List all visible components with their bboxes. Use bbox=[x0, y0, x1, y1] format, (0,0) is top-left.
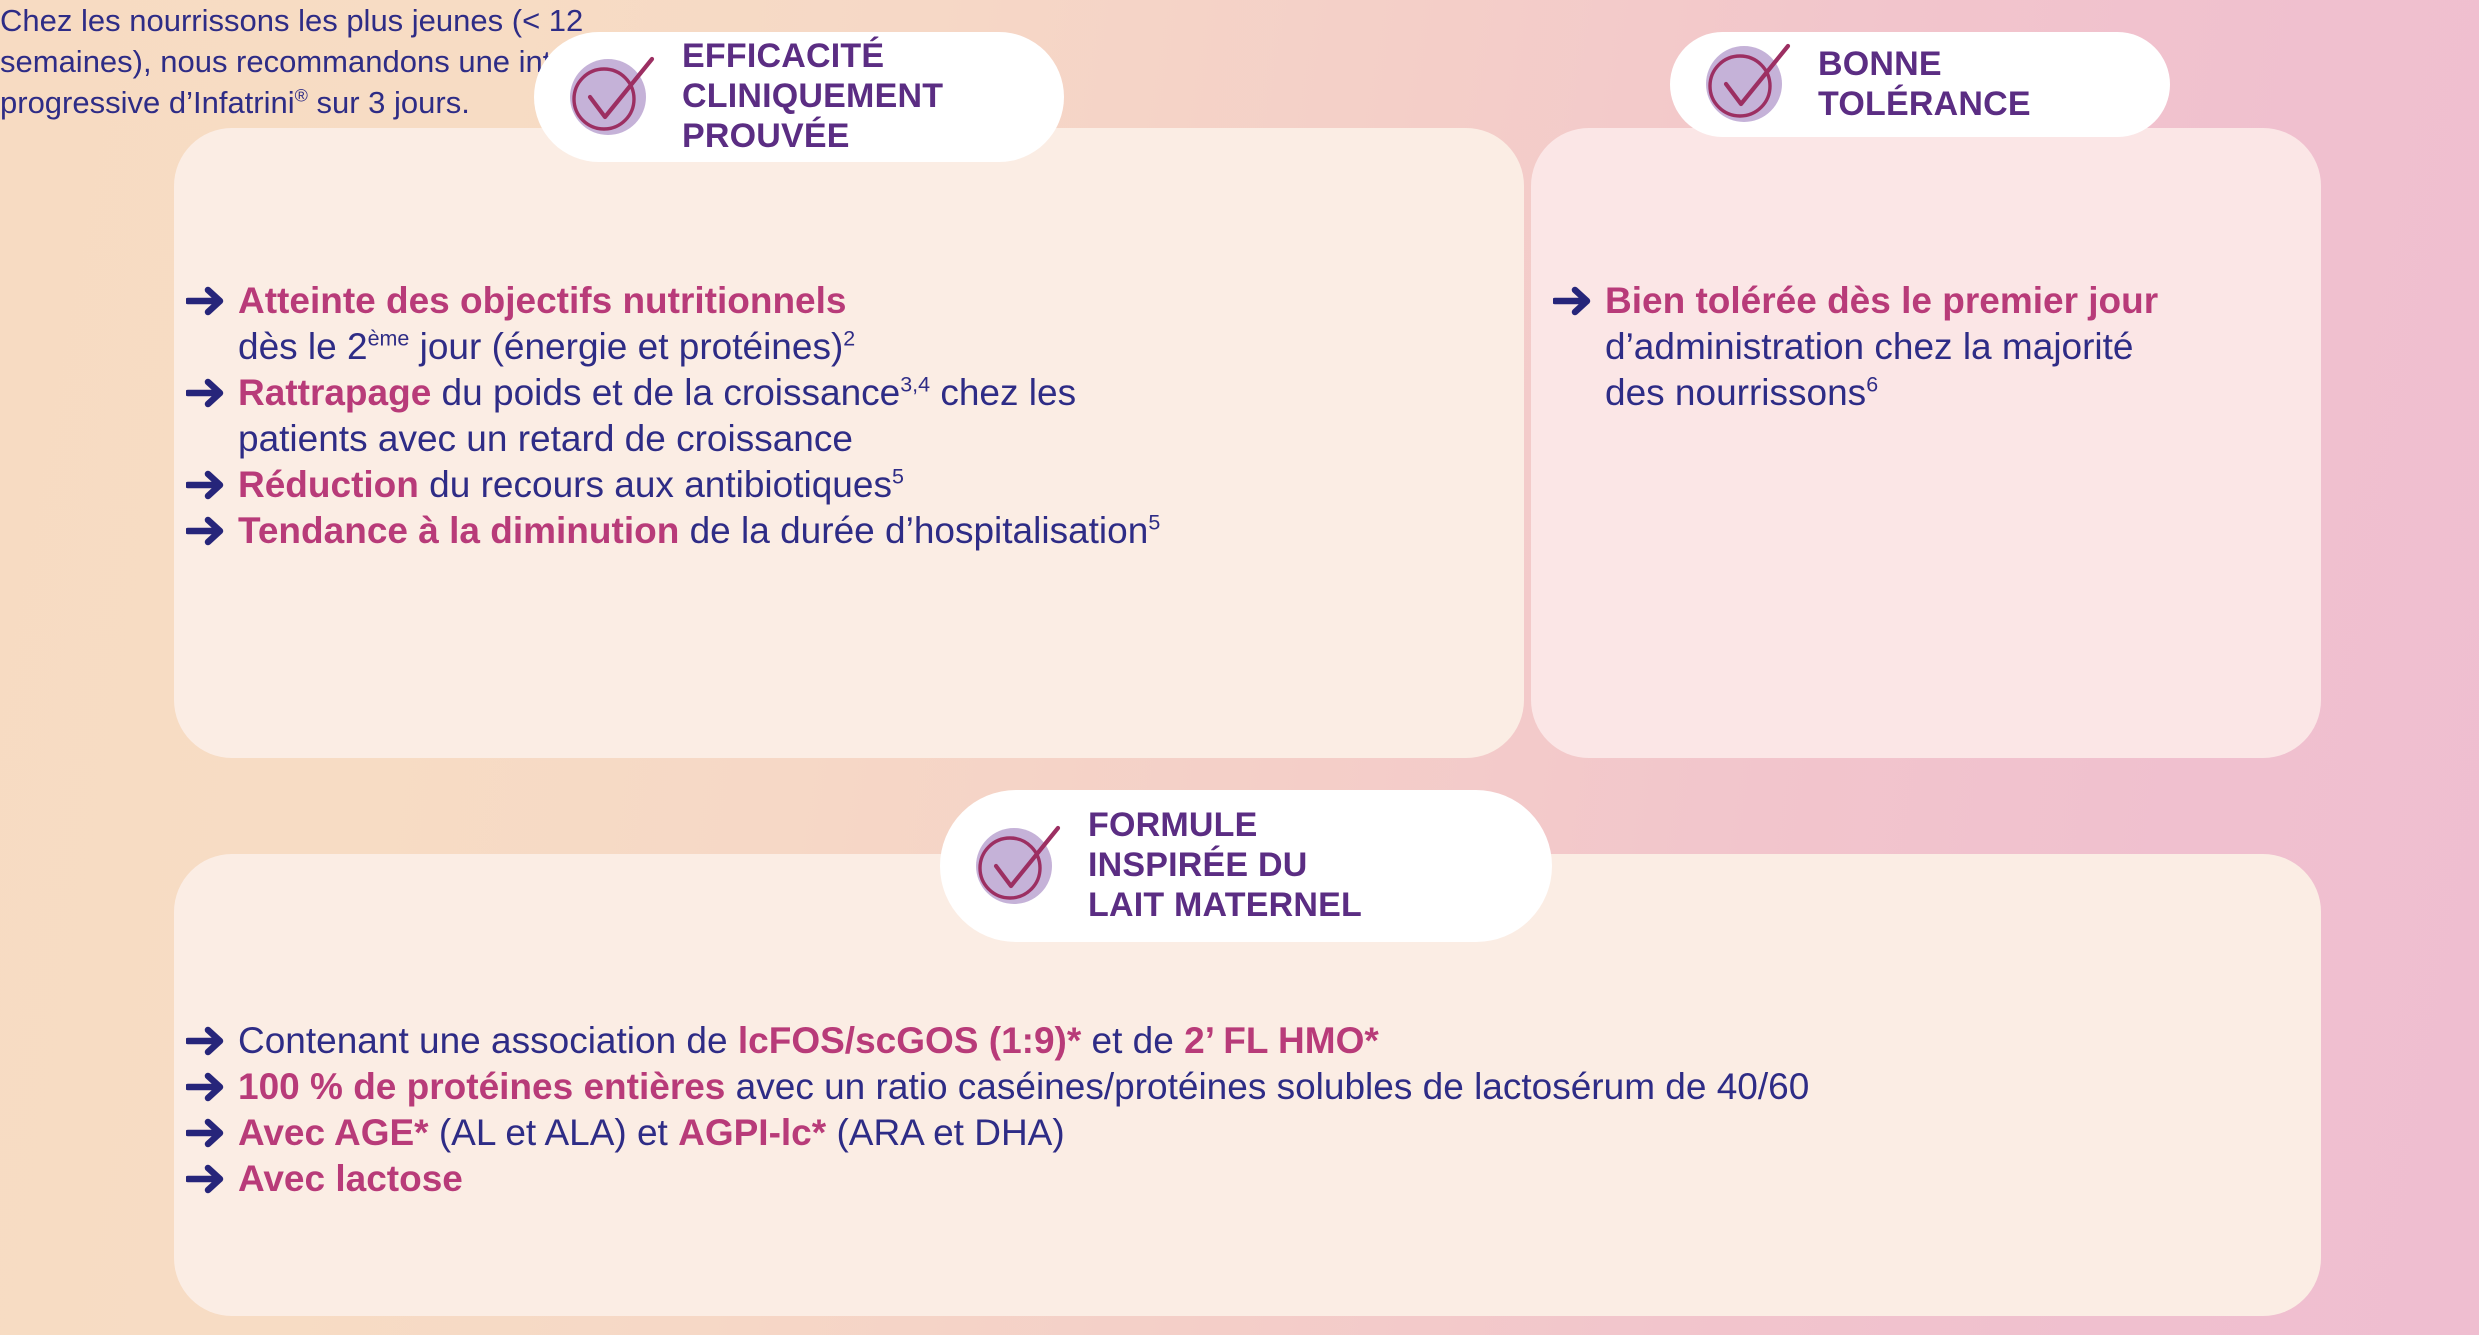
arrow-right-icon bbox=[186, 462, 238, 508]
list-item-text: Atteinte des objectifs nutritionnelsdès … bbox=[238, 278, 855, 370]
list-item: Contenant une association de lcFOS/scGOS… bbox=[186, 1018, 2306, 1064]
list-item-text: Bien tolérée dès le premier jourd’admini… bbox=[1605, 278, 2158, 416]
list-item: Avec lactose bbox=[186, 1156, 2306, 1202]
list-item-text: Réduction du recours aux antibiotiques5 bbox=[238, 462, 904, 508]
list-item: Rattrapage du poids et de la croissance3… bbox=[186, 370, 1506, 462]
arrow-right-icon bbox=[186, 508, 238, 554]
card-bonne-tolerance bbox=[1531, 128, 2321, 758]
list-item-text: Tendance à la diminution de la durée d’h… bbox=[238, 508, 1160, 554]
list-item: 100 % de protéines entières avec un rati… bbox=[186, 1064, 2306, 1110]
arrow-right-icon bbox=[186, 1018, 238, 1064]
arrow-right-icon bbox=[186, 370, 238, 416]
list-item-text: Avec lactose bbox=[238, 1156, 463, 1202]
badge-efficacite-cliniquement-prouvee: EFFICACITÉ CLINIQUEMENT PROUVÉE bbox=[534, 32, 1064, 162]
badge-bonne-tolerance: BONNE TOLÉRANCE bbox=[1670, 32, 2170, 137]
check-circle-icon bbox=[966, 812, 1070, 921]
bullet-list-tolerance: Bien tolérée dès le premier jourd’admini… bbox=[1553, 278, 2313, 416]
badge-formule-inspiree-du-lait-maternel: FORMULE INSPIRÉE DU LAIT MATERNEL bbox=[940, 790, 1552, 942]
bullet-list-efficacite: Atteinte des objectifs nutritionnelsdès … bbox=[186, 278, 1506, 554]
list-item-text: 100 % de protéines entières avec un rati… bbox=[238, 1064, 1809, 1110]
bullet-list-formule: Contenant une association de lcFOS/scGOS… bbox=[186, 1018, 2306, 1202]
arrow-right-icon bbox=[186, 1156, 238, 1202]
check-circle-icon bbox=[560, 43, 664, 152]
list-item-text: Contenant une association de lcFOS/scGOS… bbox=[238, 1018, 1379, 1064]
list-item: Avec AGE* (AL et ALA) et AGPI-lc* (ARA e… bbox=[186, 1110, 2306, 1156]
arrow-right-icon bbox=[186, 278, 238, 324]
check-circle-icon bbox=[1696, 30, 1800, 139]
list-item: Atteinte des objectifs nutritionnelsdès … bbox=[186, 278, 1506, 370]
list-item-text: Rattrapage du poids et de la croissance3… bbox=[238, 370, 1076, 462]
arrow-right-icon bbox=[186, 1110, 238, 1156]
badge-title-tolerance: BONNE TOLÉRANCE bbox=[1818, 45, 2031, 125]
arrow-right-icon bbox=[1553, 278, 1605, 324]
badge-title-efficacite: EFFICACITÉ CLINIQUEMENT PROUVÉE bbox=[682, 37, 943, 156]
arrow-right-icon bbox=[186, 1064, 238, 1110]
list-item: Tendance à la diminution de la durée d’h… bbox=[186, 508, 1506, 554]
list-item-text: Avec AGE* (AL et ALA) et AGPI-lc* (ARA e… bbox=[238, 1110, 1065, 1156]
infographic-stage: EFFICACITÉ CLINIQUEMENT PROUVÉE Atteinte… bbox=[0, 0, 2479, 1335]
badge-title-formule: FORMULE INSPIRÉE DU LAIT MATERNEL bbox=[1088, 806, 1362, 925]
list-item: Bien tolérée dès le premier jourd’admini… bbox=[1553, 278, 2313, 416]
list-item: Réduction du recours aux antibiotiques5 bbox=[186, 462, 1506, 508]
